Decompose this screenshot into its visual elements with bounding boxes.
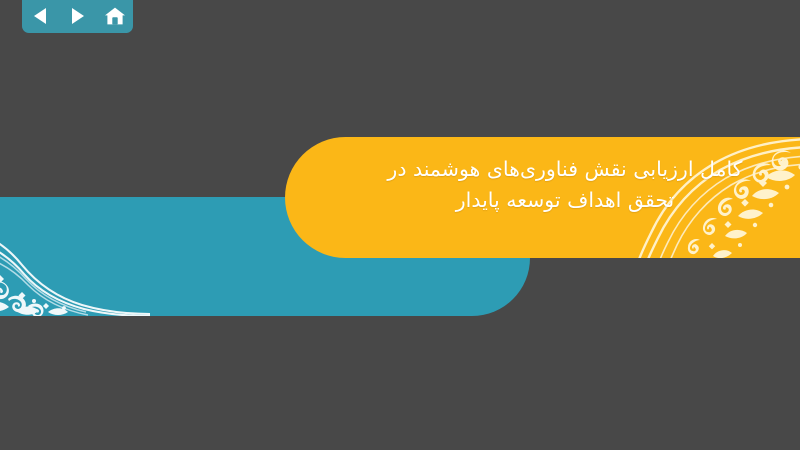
arabesque-corner-ornament-teal (0, 211, 150, 316)
slide-title-line-2: تحقق اهداف توسعه پایدار (350, 185, 780, 216)
back-triangle-icon (32, 7, 49, 25)
forward-button[interactable] (65, 4, 91, 28)
back-button[interactable] (28, 4, 54, 28)
home-icon (104, 6, 126, 26)
slide-canvas: کامل ارزیابی نقش فناوری‌های هوشمند در تح… (0, 0, 800, 450)
title-banner: کامل ارزیابی نقش فناوری‌های هوشمند در تح… (285, 137, 800, 258)
navigation-bar (22, 0, 133, 33)
slide-title: کامل ارزیابی نقش فناوری‌های هوشمند در تح… (350, 154, 780, 216)
forward-triangle-icon (69, 7, 86, 25)
slide-title-line-1: کامل ارزیابی نقش فناوری‌های هوشمند در (350, 154, 780, 185)
home-button[interactable] (102, 4, 128, 28)
